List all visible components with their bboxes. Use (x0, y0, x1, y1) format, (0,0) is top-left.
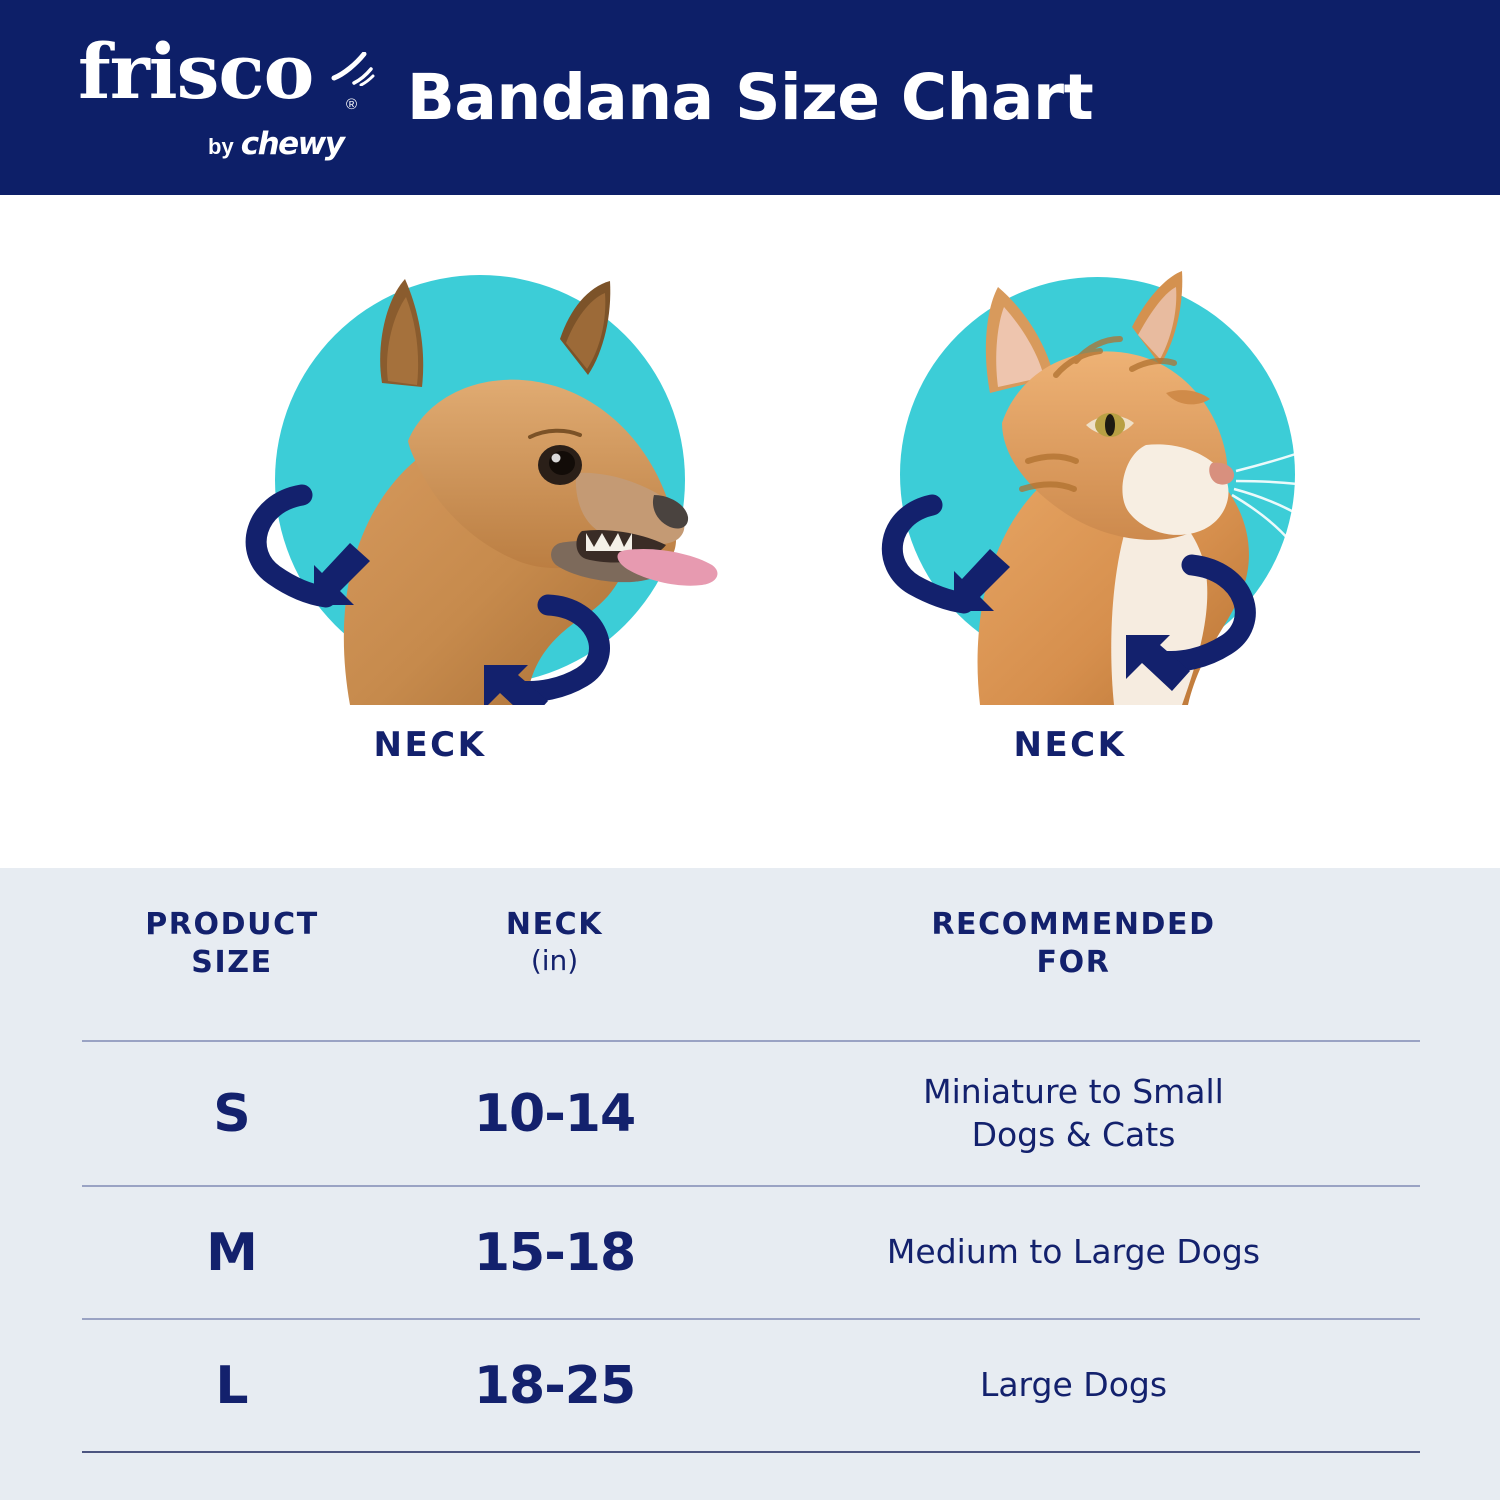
chewy-wordmark: chewy (241, 126, 344, 162)
recommended-line2: FOR (727, 944, 1420, 982)
size-table-section: PRODUCT SIZE NECK (in) RECOMMENDED FOR S… (0, 868, 1500, 1500)
brand-subline: by chewy (208, 126, 344, 162)
size-chart-page: frisco ® by chewy Bandana Size Chart (0, 0, 1500, 1500)
table-header-row: PRODUCT SIZE NECK (in) RECOMMENDED FOR (82, 868, 1420, 1040)
dog-neck-label: NECK (130, 725, 730, 765)
col-header-neck: NECK (in) (382, 906, 727, 977)
row-size-value: M (82, 1223, 382, 1283)
dog-illustration (230, 265, 730, 705)
neck-header-unit: (in) (382, 944, 727, 977)
dog-figure-wrap (230, 265, 640, 705)
table-row: S 10-14 Miniature to Small Dogs & Cats (82, 1040, 1420, 1185)
row-size-value: L (82, 1356, 382, 1416)
row-neck-value: 10-14 (382, 1084, 727, 1144)
row-recommended-value: Miniature to Small Dogs & Cats (727, 1071, 1420, 1157)
row-recommended-line1: Large Dogs (727, 1364, 1420, 1407)
row-recommended-value: Medium to Large Dogs (727, 1231, 1420, 1274)
cat-illustration (870, 265, 1370, 705)
col-header-recommended-for: RECOMMENDED FOR (727, 906, 1420, 982)
swoosh-icon (330, 52, 376, 86)
recommended-line1: RECOMMENDED (727, 906, 1420, 944)
row-recommended-line1: Medium to Large Dogs (727, 1231, 1420, 1274)
table-row: L 18-25 Large Dogs (82, 1318, 1420, 1451)
row-size-value: S (82, 1084, 382, 1144)
dog-measurement-figure: NECK (130, 195, 730, 868)
col-header-product-size: PRODUCT SIZE (82, 906, 382, 982)
size-table: PRODUCT SIZE NECK (in) RECOMMENDED FOR S… (82, 868, 1420, 1453)
table-row: M 15-18 Medium to Large Dogs (82, 1185, 1420, 1318)
row-neck-value: 18-25 (382, 1356, 727, 1416)
cat-figure-wrap (870, 265, 1280, 705)
frisco-by-chewy-logo: frisco ® by chewy (78, 34, 378, 164)
table-bottom-divider (82, 1451, 1420, 1453)
row-recommended-value: Large Dogs (727, 1364, 1420, 1407)
cat-neck-label: NECK (770, 725, 1370, 765)
illustration-band: NECK (0, 195, 1500, 868)
product-size-line2: SIZE (82, 944, 382, 982)
brand-wordmark: frisco (78, 34, 313, 110)
product-size-line1: PRODUCT (82, 906, 382, 944)
cat-measurement-figure: NECK (770, 195, 1370, 868)
row-recommended-line2: Dogs & Cats (727, 1114, 1420, 1157)
row-recommended-line1: Miniature to Small (727, 1071, 1420, 1114)
page-header: frisco ® by chewy Bandana Size Chart (0, 0, 1500, 195)
registered-trademark-icon: ® (346, 96, 357, 113)
row-neck-value: 15-18 (382, 1223, 727, 1283)
brand-by-label: by (208, 134, 234, 160)
neck-header-label: NECK (382, 906, 727, 944)
